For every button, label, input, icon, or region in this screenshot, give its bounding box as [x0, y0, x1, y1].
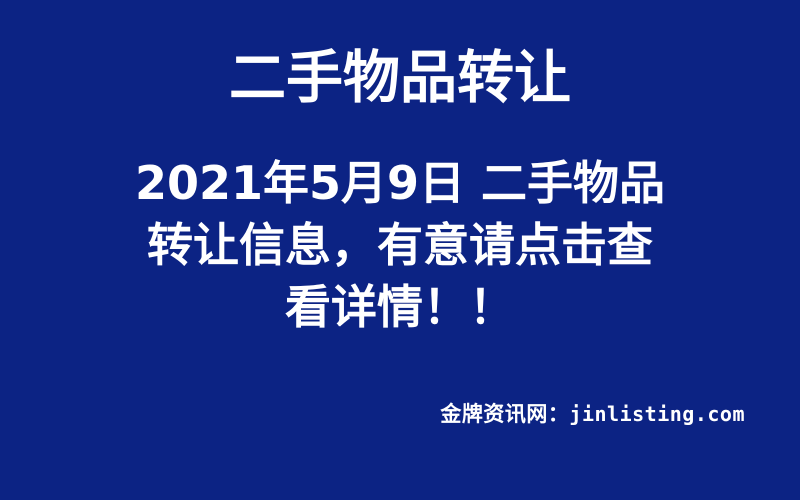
watermark: 金牌资讯网：jinlisting.com [0, 398, 800, 428]
announcement-line: 看详情！！ [0, 276, 800, 338]
announcement-line: 2021年5月9日 二手物品 [0, 152, 800, 214]
page-title: 二手物品转让 [0, 44, 800, 112]
site-url-label: jinlisting.com [569, 402, 745, 426]
announcement-text: 2021年5月9日 二手物品 转让信息，有意请点击查 看详情！！ [0, 152, 800, 338]
promo-poster: 二手物品转让 2021年5月9日 二手物品 转让信息，有意请点击查 看详情！！ … [0, 0, 800, 500]
site-name-label: 金牌资讯网： [440, 402, 569, 426]
announcement-line: 转让信息，有意请点击查 [0, 214, 800, 276]
